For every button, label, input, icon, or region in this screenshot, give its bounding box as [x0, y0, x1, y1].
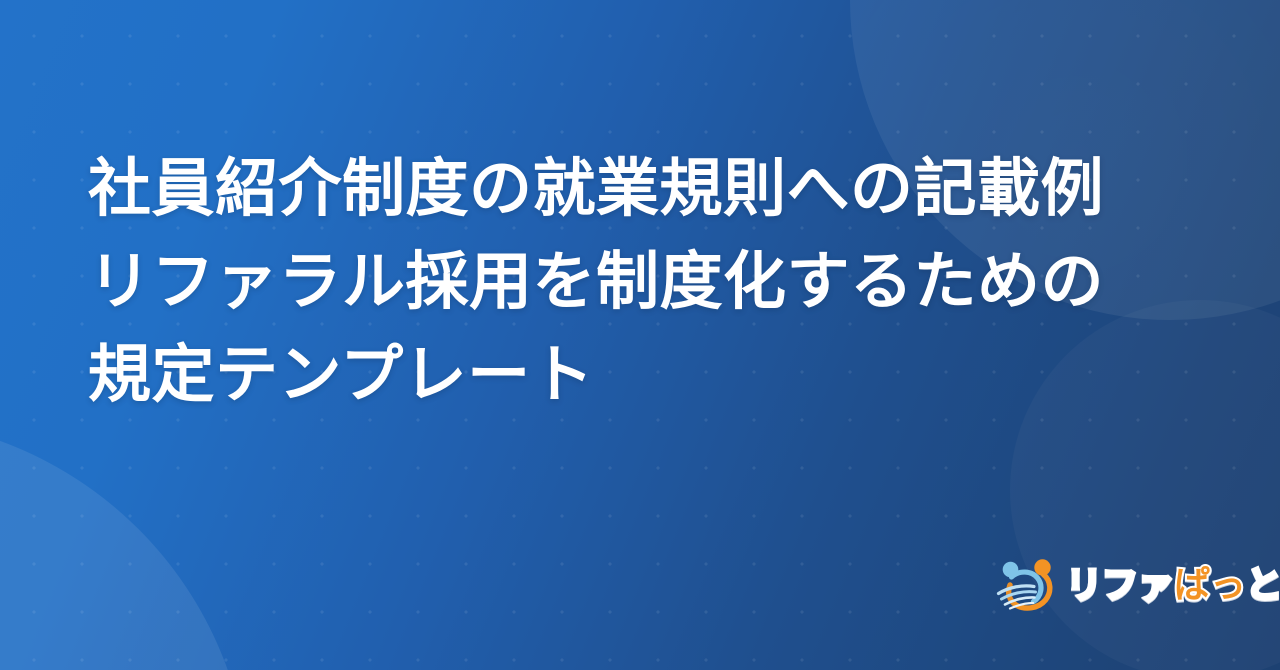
ogp-banner: 社員紹介制度の就業規則への記載例 リファラル採用を制度化するための 規定テンプレ…	[0, 0, 1280, 670]
referral-swoosh-mark-icon	[996, 556, 1058, 614]
headline-line-1: 社員紹介制度の就業規則への記載例	[88, 143, 1208, 236]
brand-logo-wordmark: リファぱっと	[1066, 567, 1280, 603]
headline-line-2: リファラル採用を制度化するための	[88, 236, 1208, 329]
wordmark-part-1: リファ	[1066, 564, 1174, 605]
headline-line-3: 規定テンプレート	[88, 329, 1208, 422]
wordmark-part-2: ぱっ	[1174, 564, 1246, 605]
brand-logo: リファぱっと	[996, 556, 1280, 614]
page-title: 社員紹介制度の就業規則への記載例 リファラル採用を制度化するための 規定テンプレ…	[88, 143, 1208, 422]
wordmark-part-3: と	[1246, 564, 1280, 605]
